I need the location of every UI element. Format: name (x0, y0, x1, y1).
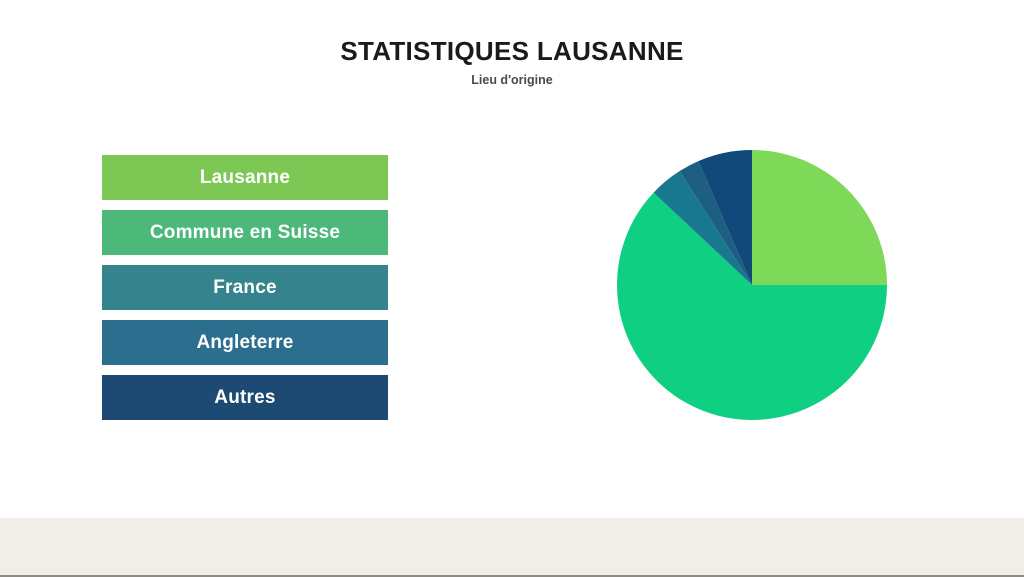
chart-legend: LausanneCommune en SuisseFranceAngleterr… (102, 155, 388, 420)
legend-item-label: Autres (214, 387, 275, 409)
legend-item-label: Lausanne (200, 167, 290, 189)
footer-band (0, 518, 1024, 577)
legend-item[interactable]: Commune en Suisse (102, 210, 388, 255)
legend-item-label: Commune en Suisse (150, 222, 340, 244)
slide-canvas: STATISTIQUES LAUSANNE Lieu d'origine Lau… (0, 0, 1024, 577)
legend-item-label: Angleterre (196, 332, 293, 354)
legend-item[interactable]: Angleterre (102, 320, 388, 365)
page-subtitle: Lieu d'origine (0, 72, 1024, 88)
pie-chart (617, 150, 887, 420)
slide-header: STATISTIQUES LAUSANNE Lieu d'origine (0, 34, 1024, 88)
pie-chart-svg (617, 150, 887, 420)
legend-item[interactable]: Autres (102, 375, 388, 420)
pie-slice[interactable] (752, 150, 887, 285)
legend-item-label: France (213, 277, 277, 299)
legend-item[interactable]: Lausanne (102, 155, 388, 200)
legend-item[interactable]: France (102, 265, 388, 310)
page-title: STATISTIQUES LAUSANNE (0, 34, 1024, 68)
